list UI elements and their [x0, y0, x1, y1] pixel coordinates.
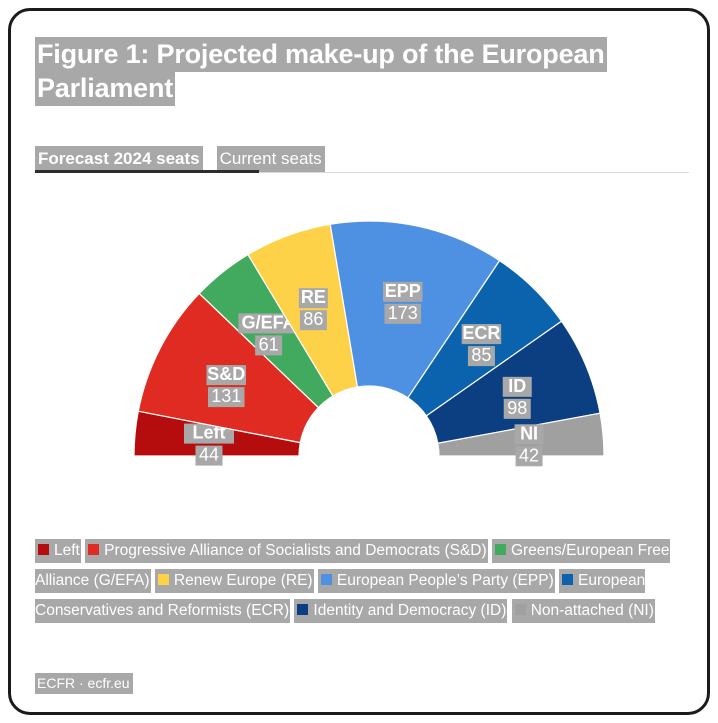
legend-item-label: European People’s Party (EPP) [337, 572, 554, 589]
legend-item-renew-europe-re[interactable]: Renew Europe (RE) [155, 569, 314, 593]
slice-name-label: NI [520, 423, 538, 443]
slice-name-label: ECR [462, 323, 500, 343]
legend-item-non-attached-ni[interactable]: Non-attached (NI) [512, 599, 655, 623]
slice-name-label: EPP [385, 281, 421, 301]
slice-value-label: 86 [303, 309, 323, 329]
figure-card: Figure 1: Projected make-up of the Europ… [8, 8, 710, 715]
slice-name-label: ID [508, 376, 526, 396]
legend-item-label: Left [54, 542, 80, 559]
hemicycle-svg: Left44S&D131G/EFA61RE86EPP173ECR85ID98NI… [11, 181, 707, 526]
legend-item-left[interactable]: Left [35, 539, 81, 563]
slice-value-label: 44 [199, 445, 219, 465]
legend-swatch-icon [158, 574, 169, 585]
legend-swatch-icon [515, 604, 526, 615]
legend-swatch-icon [495, 544, 506, 555]
legend-item-european-people-s-party-epp[interactable]: European People’s Party (EPP) [318, 569, 555, 593]
slice-name-label: S&D [207, 364, 245, 384]
slice-label-epp: EPP173 [383, 281, 423, 324]
page-title: Figure 1: Projected make-up of the Europ… [35, 37, 635, 105]
slice-label-s-d: S&D131 [207, 364, 247, 407]
tab-active-underline [35, 170, 259, 173]
chart-legend: Left Progressive Alliance of Socialists … [35, 536, 695, 626]
legend-item-label: Progressive Alliance of Socialists and D… [104, 542, 486, 559]
tab-bar: Forecast 2024 seatsCurrent seats [35, 139, 689, 177]
legend-item-label: Identity and Democracy (ID) [313, 602, 506, 619]
legend-item-progressive-alliance-of-socialists-and-democrats-s-d[interactable]: Progressive Alliance of Socialists and D… [85, 539, 487, 563]
slice-name-label: RE [301, 287, 326, 307]
source-credit: ECFR · ecfr.eu [35, 673, 133, 693]
slice-value-label: 131 [211, 386, 241, 406]
slice-value-label: 61 [259, 334, 279, 354]
legend-swatch-icon [562, 574, 573, 585]
slice-value-label: 42 [519, 445, 539, 465]
legend-item-identity-and-democracy-id[interactable]: Identity and Democracy (ID) [294, 599, 507, 623]
source-credit-text: ECFR · ecfr.eu [35, 673, 133, 694]
slice-value-label: 98 [507, 398, 527, 418]
legend-item-label: Renew Europe (RE) [174, 572, 313, 589]
legend-swatch-icon [38, 544, 49, 555]
hemicycle-chart: Left44S&D131G/EFA61RE86EPP173ECR85ID98NI… [11, 181, 707, 526]
legend-swatch-icon [88, 544, 99, 555]
slice-value-label: 85 [471, 345, 491, 365]
legend-item-label: Non-attached (NI) [531, 602, 654, 619]
legend-swatch-icon [321, 574, 332, 585]
tab-current-seats[interactable]: Current seats [217, 146, 325, 173]
legend-swatch-icon [297, 604, 308, 615]
slice-value-label: 173 [388, 303, 418, 323]
page-title-text: Figure 1: Projected make-up of the Europ… [35, 37, 607, 106]
tab-forecast-2024-seats[interactable]: Forecast 2024 seats [35, 146, 203, 173]
